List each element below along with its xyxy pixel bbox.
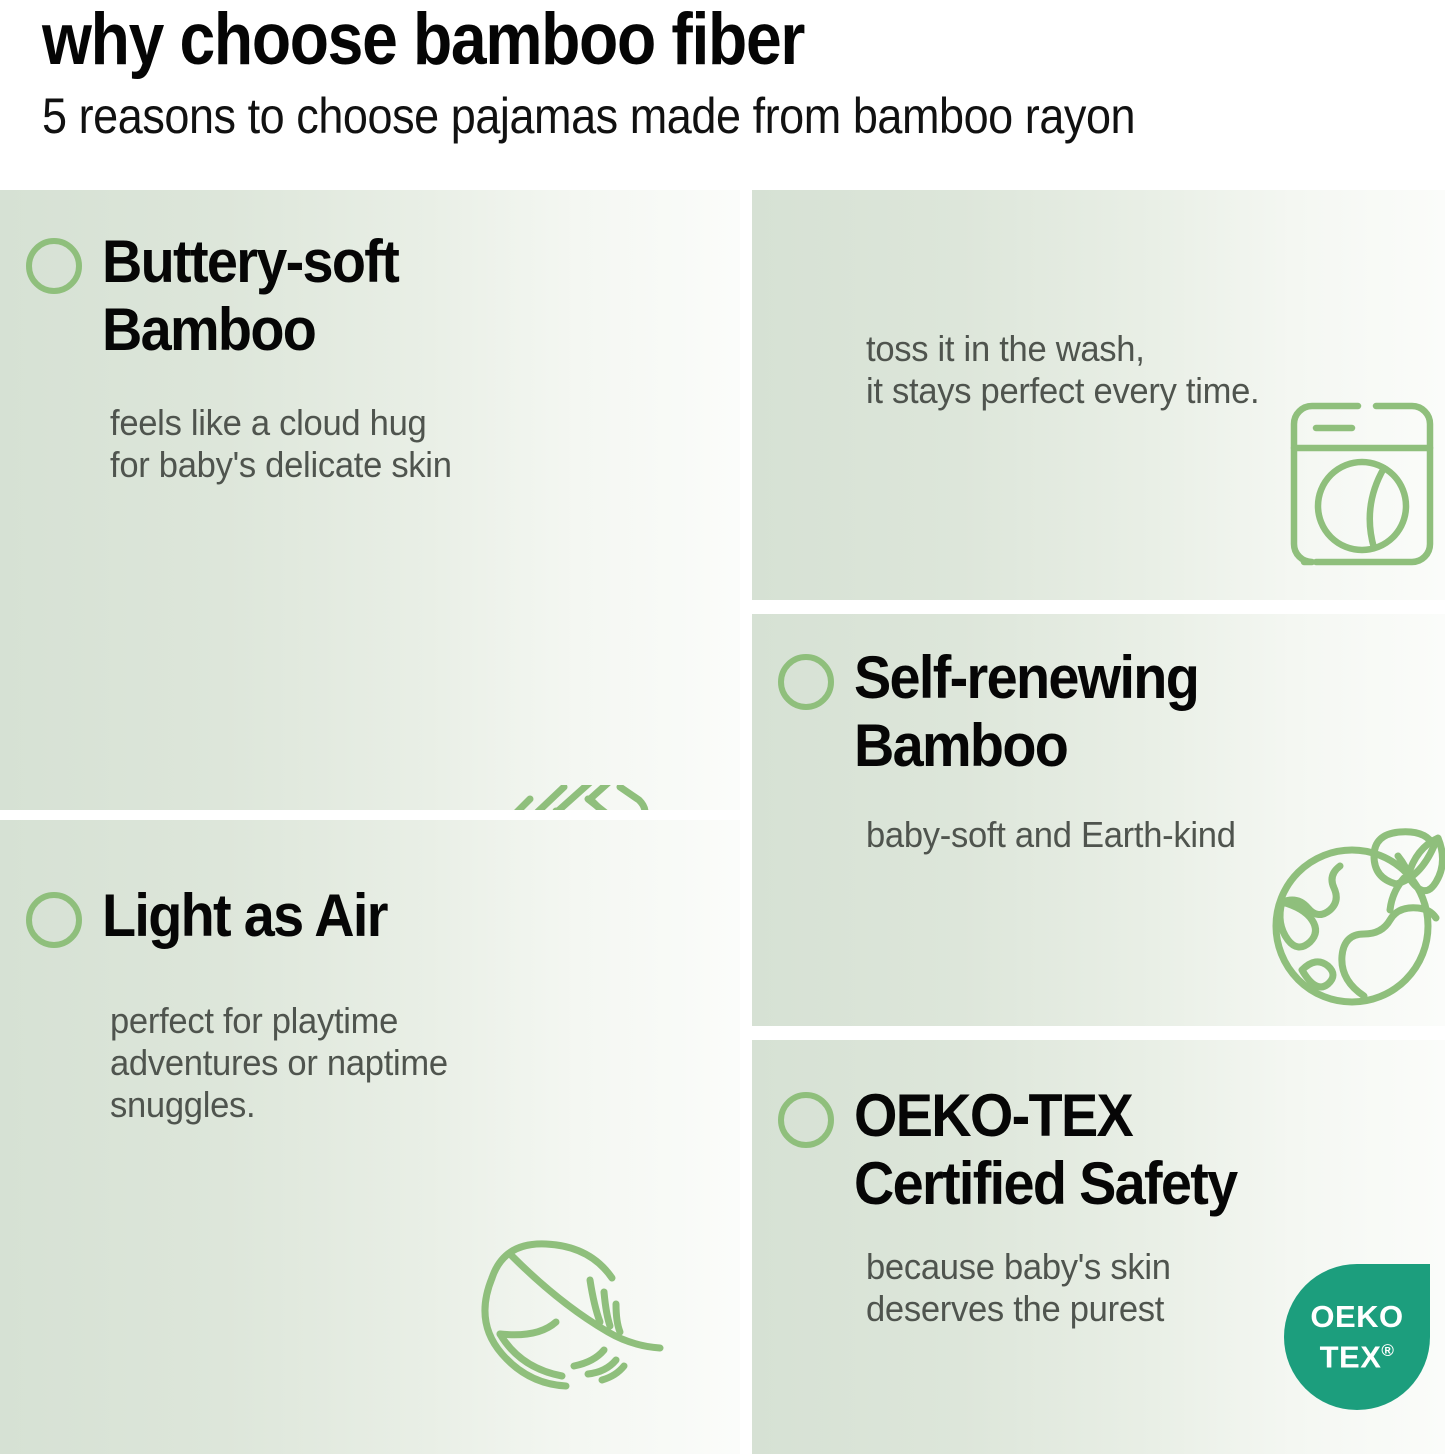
card-oeko-description: because baby's skin deserves the purest [866, 1246, 1171, 1330]
card-buttery-soft-bamboo: Buttery-soft Bamboo feels like a cloud h… [0, 190, 740, 810]
card-light-description: perfect for playtime adventures or napti… [110, 1000, 448, 1126]
card-mom-description: toss it in the wash, it stays perfect ev… [866, 328, 1259, 412]
feather-icon [470, 1222, 680, 1422]
card-oeko-header: OEKO-TEX Certified Safety [778, 1082, 1265, 1218]
earth-leaf-icon [1268, 810, 1445, 1010]
card-self-description: baby-soft and Earth-kind [866, 814, 1236, 856]
card-self-renewing-bamboo: Self-renewing Bamboo baby-soft and Earth… [752, 614, 1445, 1026]
washing-machine-icon [1288, 400, 1436, 568]
card-light-header: Light as Air [26, 882, 408, 950]
circle-bullet-icon [778, 654, 834, 710]
card-light-as-air: Light as Air perfect for playtime advent… [0, 820, 740, 1454]
oeko-tex-badge: OEKO TEX® [1284, 1264, 1430, 1410]
header: why choose bamboo fiber 5 reasons to cho… [0, 0, 1445, 190]
card-oeko-tex-certified-safety: OEKO-TEX Certified Safety because baby's… [752, 1040, 1445, 1454]
circle-bullet-icon [26, 238, 82, 294]
oeko-badge-text: TEX [1320, 1339, 1382, 1374]
page-subtitle: 5 reasons to choose pajamas made from ba… [42, 88, 1135, 144]
soft-touch-hand-icon [468, 785, 688, 810]
card-buttery-description: feels like a cloud hug for baby's delica… [110, 402, 452, 486]
circle-bullet-icon [26, 892, 82, 948]
page-title: why choose bamboo fiber [42, 2, 804, 78]
registered-mark-icon: ® [1381, 1341, 1394, 1360]
oeko-badge-line2: TEX® [1320, 1334, 1395, 1374]
card-oeko-title: OEKO-TEX Certified Safety [854, 1082, 1237, 1218]
card-buttery-header: Buttery-soft Bamboo [26, 228, 420, 364]
card-self-title: Self-renewing Bamboo [854, 644, 1198, 780]
oeko-badge-line1: OEKO [1310, 1300, 1403, 1334]
card-mom-approved: Mom-approved toss it in the wash, it sta… [752, 190, 1445, 600]
infographic-page: why choose bamboo fiber 5 reasons to cho… [0, 0, 1445, 1454]
circle-bullet-icon [778, 1092, 834, 1148]
card-light-title: Light as Air [102, 882, 387, 950]
card-buttery-title: Buttery-soft Bamboo [102, 228, 398, 364]
card-self-header: Self-renewing Bamboo [778, 644, 1224, 780]
